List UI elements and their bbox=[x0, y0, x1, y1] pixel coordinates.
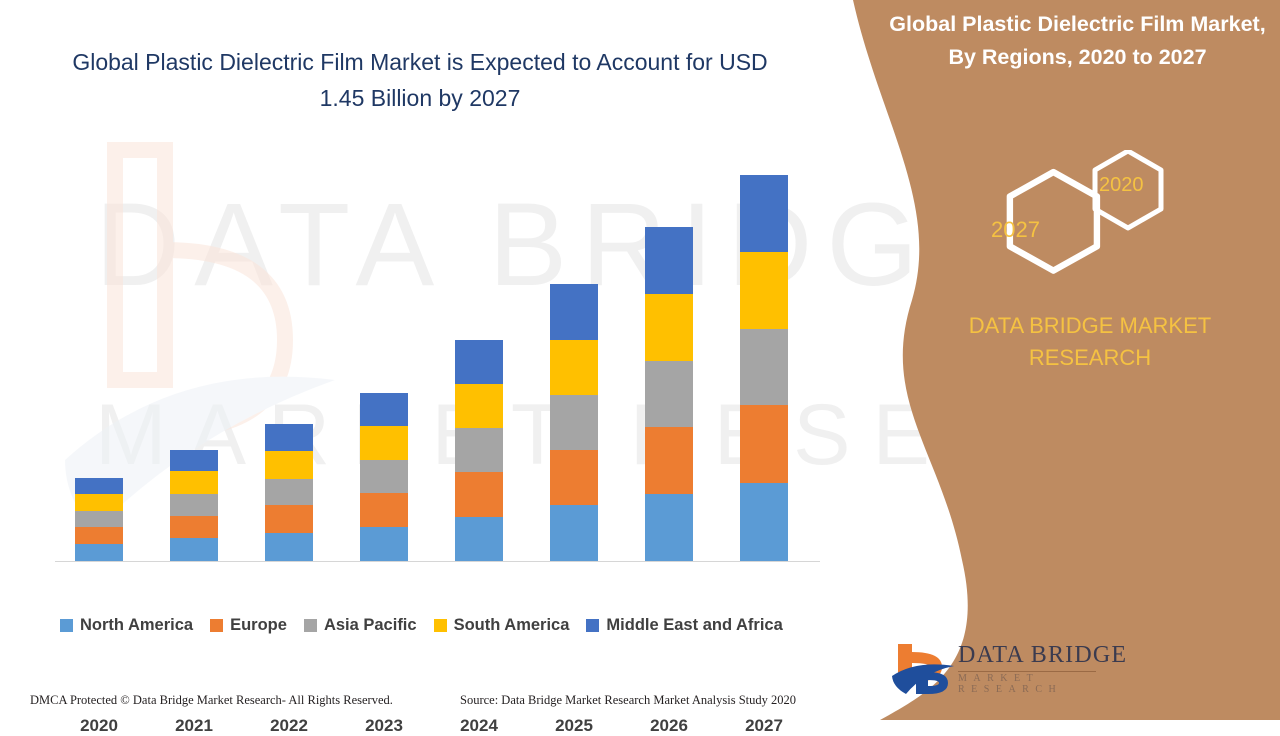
bar-2022[interactable] bbox=[265, 424, 313, 561]
bar-segment-2021-north-america[interactable] bbox=[170, 538, 218, 561]
legend-swatch-icon bbox=[586, 619, 599, 632]
bar-segment-2027-asia-pacific[interactable] bbox=[740, 329, 788, 405]
bar-2026[interactable] bbox=[645, 227, 693, 561]
legend-item-europe[interactable]: Europe bbox=[210, 616, 287, 635]
bar-segment-2020-middle-east-and-africa[interactable] bbox=[75, 478, 123, 494]
bar-segment-2026-middle-east-and-africa[interactable] bbox=[645, 227, 693, 294]
bar-segment-2020-south-america[interactable] bbox=[75, 494, 123, 510]
bar-segment-2025-middle-east-and-africa[interactable] bbox=[550, 284, 598, 340]
stacked-bar-chart: 20202021202220232024202520262027 bbox=[55, 150, 830, 562]
x-axis-label-2027: 2027 bbox=[740, 716, 788, 736]
legend-label: Middle East and Africa bbox=[606, 616, 782, 635]
bar-2020[interactable] bbox=[75, 478, 123, 561]
chart-legend: North AmericaEuropeAsia PacificSouth Ame… bbox=[60, 616, 835, 635]
bar-segment-2027-middle-east-and-africa[interactable] bbox=[740, 175, 788, 252]
infographic-canvas: DATA BRIDGE MARKET RESEARCH Global Plast… bbox=[0, 0, 1280, 720]
bar-2025[interactable] bbox=[550, 284, 598, 561]
legend-label: Europe bbox=[230, 616, 287, 635]
legend-item-middle-east-and-africa[interactable]: Middle East and Africa bbox=[586, 616, 782, 635]
bar-segment-2025-south-america[interactable] bbox=[550, 340, 598, 396]
panel-brand: DATA BRIDGE MARKET RESEARCH bbox=[940, 310, 1240, 374]
bar-2023[interactable] bbox=[360, 393, 408, 561]
bar-segment-2025-north-america[interactable] bbox=[550, 505, 598, 561]
bar-segment-2025-asia-pacific[interactable] bbox=[550, 395, 598, 450]
bar-segment-2020-asia-pacific[interactable] bbox=[75, 511, 123, 527]
hexagon-2027-label: 2027 bbox=[991, 217, 1040, 243]
year-hexagons: 2027 2020 bbox=[975, 150, 1205, 285]
legend-label: Asia Pacific bbox=[324, 616, 417, 635]
footer-copyright: DMCA Protected © Data Bridge Market Rese… bbox=[30, 693, 393, 708]
hexagon-2020-label: 2020 bbox=[1099, 174, 1144, 197]
legend-swatch-icon bbox=[304, 619, 317, 632]
bar-segment-2024-middle-east-and-africa[interactable] bbox=[455, 340, 503, 384]
bar-segment-2020-europe[interactable] bbox=[75, 527, 123, 543]
x-axis-label-2023: 2023 bbox=[360, 716, 408, 736]
bar-segment-2024-south-america[interactable] bbox=[455, 384, 503, 428]
bar-segment-2022-europe[interactable] bbox=[265, 505, 313, 533]
bar-segment-2023-north-america[interactable] bbox=[360, 527, 408, 561]
bar-segment-2021-europe[interactable] bbox=[170, 516, 218, 539]
footer-source: Source: Data Bridge Market Research Mark… bbox=[460, 693, 796, 708]
bar-2027[interactable] bbox=[740, 175, 788, 561]
bar-segment-2023-south-america[interactable] bbox=[360, 426, 408, 460]
x-axis-label-2022: 2022 bbox=[265, 716, 313, 736]
x-axis-label-2024: 2024 bbox=[455, 716, 503, 736]
x-axis-label-2021: 2021 bbox=[170, 716, 218, 736]
legend-item-north-america[interactable]: North America bbox=[60, 616, 193, 635]
bar-segment-2027-north-america[interactable] bbox=[740, 483, 788, 561]
x-axis-label-2025: 2025 bbox=[550, 716, 598, 736]
bar-segment-2026-north-america[interactable] bbox=[645, 494, 693, 561]
x-axis-label-2026: 2026 bbox=[645, 716, 693, 736]
legend-label: South America bbox=[454, 616, 570, 635]
bar-segment-2026-south-america[interactable] bbox=[645, 294, 693, 361]
legend-item-south-america[interactable]: South America bbox=[434, 616, 570, 635]
bar-segment-2027-europe[interactable] bbox=[740, 405, 788, 482]
x-axis-line bbox=[55, 561, 820, 562]
bar-segment-2021-asia-pacific[interactable] bbox=[170, 494, 218, 516]
legend-swatch-icon bbox=[434, 619, 447, 632]
legend-swatch-icon bbox=[60, 619, 73, 632]
bar-segment-2020-north-america[interactable] bbox=[75, 544, 123, 562]
legend-item-asia-pacific[interactable]: Asia Pacific bbox=[304, 616, 417, 635]
data-bridge-logo: DATA BRIDGE MARKET RESEARCH bbox=[890, 638, 1140, 700]
legend-swatch-icon bbox=[210, 619, 223, 632]
bar-segment-2022-north-america[interactable] bbox=[265, 533, 313, 561]
bar-segment-2023-middle-east-and-africa[interactable] bbox=[360, 393, 408, 426]
logo-tagline: MARKET RESEARCH bbox=[958, 673, 1140, 695]
bar-2021[interactable] bbox=[170, 450, 218, 561]
data-bridge-b-swoosh-logo bbox=[890, 638, 960, 700]
bar-segment-2026-asia-pacific[interactable] bbox=[645, 361, 693, 427]
panel-title: Global Plastic Dielectric Film Market, B… bbox=[885, 8, 1270, 74]
logo-name: DATA BRIDGE bbox=[958, 642, 1127, 669]
bar-segment-2021-middle-east-and-africa[interactable] bbox=[170, 450, 218, 472]
legend-label: North America bbox=[80, 616, 193, 635]
x-axis-label-2020: 2020 bbox=[75, 716, 123, 736]
bar-segment-2025-europe[interactable] bbox=[550, 450, 598, 506]
bar-segment-2026-europe[interactable] bbox=[645, 427, 693, 494]
bar-segment-2024-north-america[interactable] bbox=[455, 517, 503, 561]
bar-segment-2022-middle-east-and-africa[interactable] bbox=[265, 424, 313, 451]
bar-segment-2027-south-america[interactable] bbox=[740, 252, 788, 329]
bar-segment-2023-asia-pacific[interactable] bbox=[360, 460, 408, 493]
bar-segment-2024-europe[interactable] bbox=[455, 472, 503, 516]
bar-2024[interactable] bbox=[455, 340, 503, 561]
bar-segment-2023-europe[interactable] bbox=[360, 493, 408, 527]
page-title: Global Plastic Dielectric Film Market is… bbox=[70, 44, 770, 116]
bar-segment-2022-asia-pacific[interactable] bbox=[265, 479, 313, 506]
bar-segment-2022-south-america[interactable] bbox=[265, 451, 313, 479]
logo-divider bbox=[958, 671, 1096, 672]
bar-segment-2024-asia-pacific[interactable] bbox=[455, 428, 503, 472]
bar-segment-2021-south-america[interactable] bbox=[170, 471, 218, 494]
